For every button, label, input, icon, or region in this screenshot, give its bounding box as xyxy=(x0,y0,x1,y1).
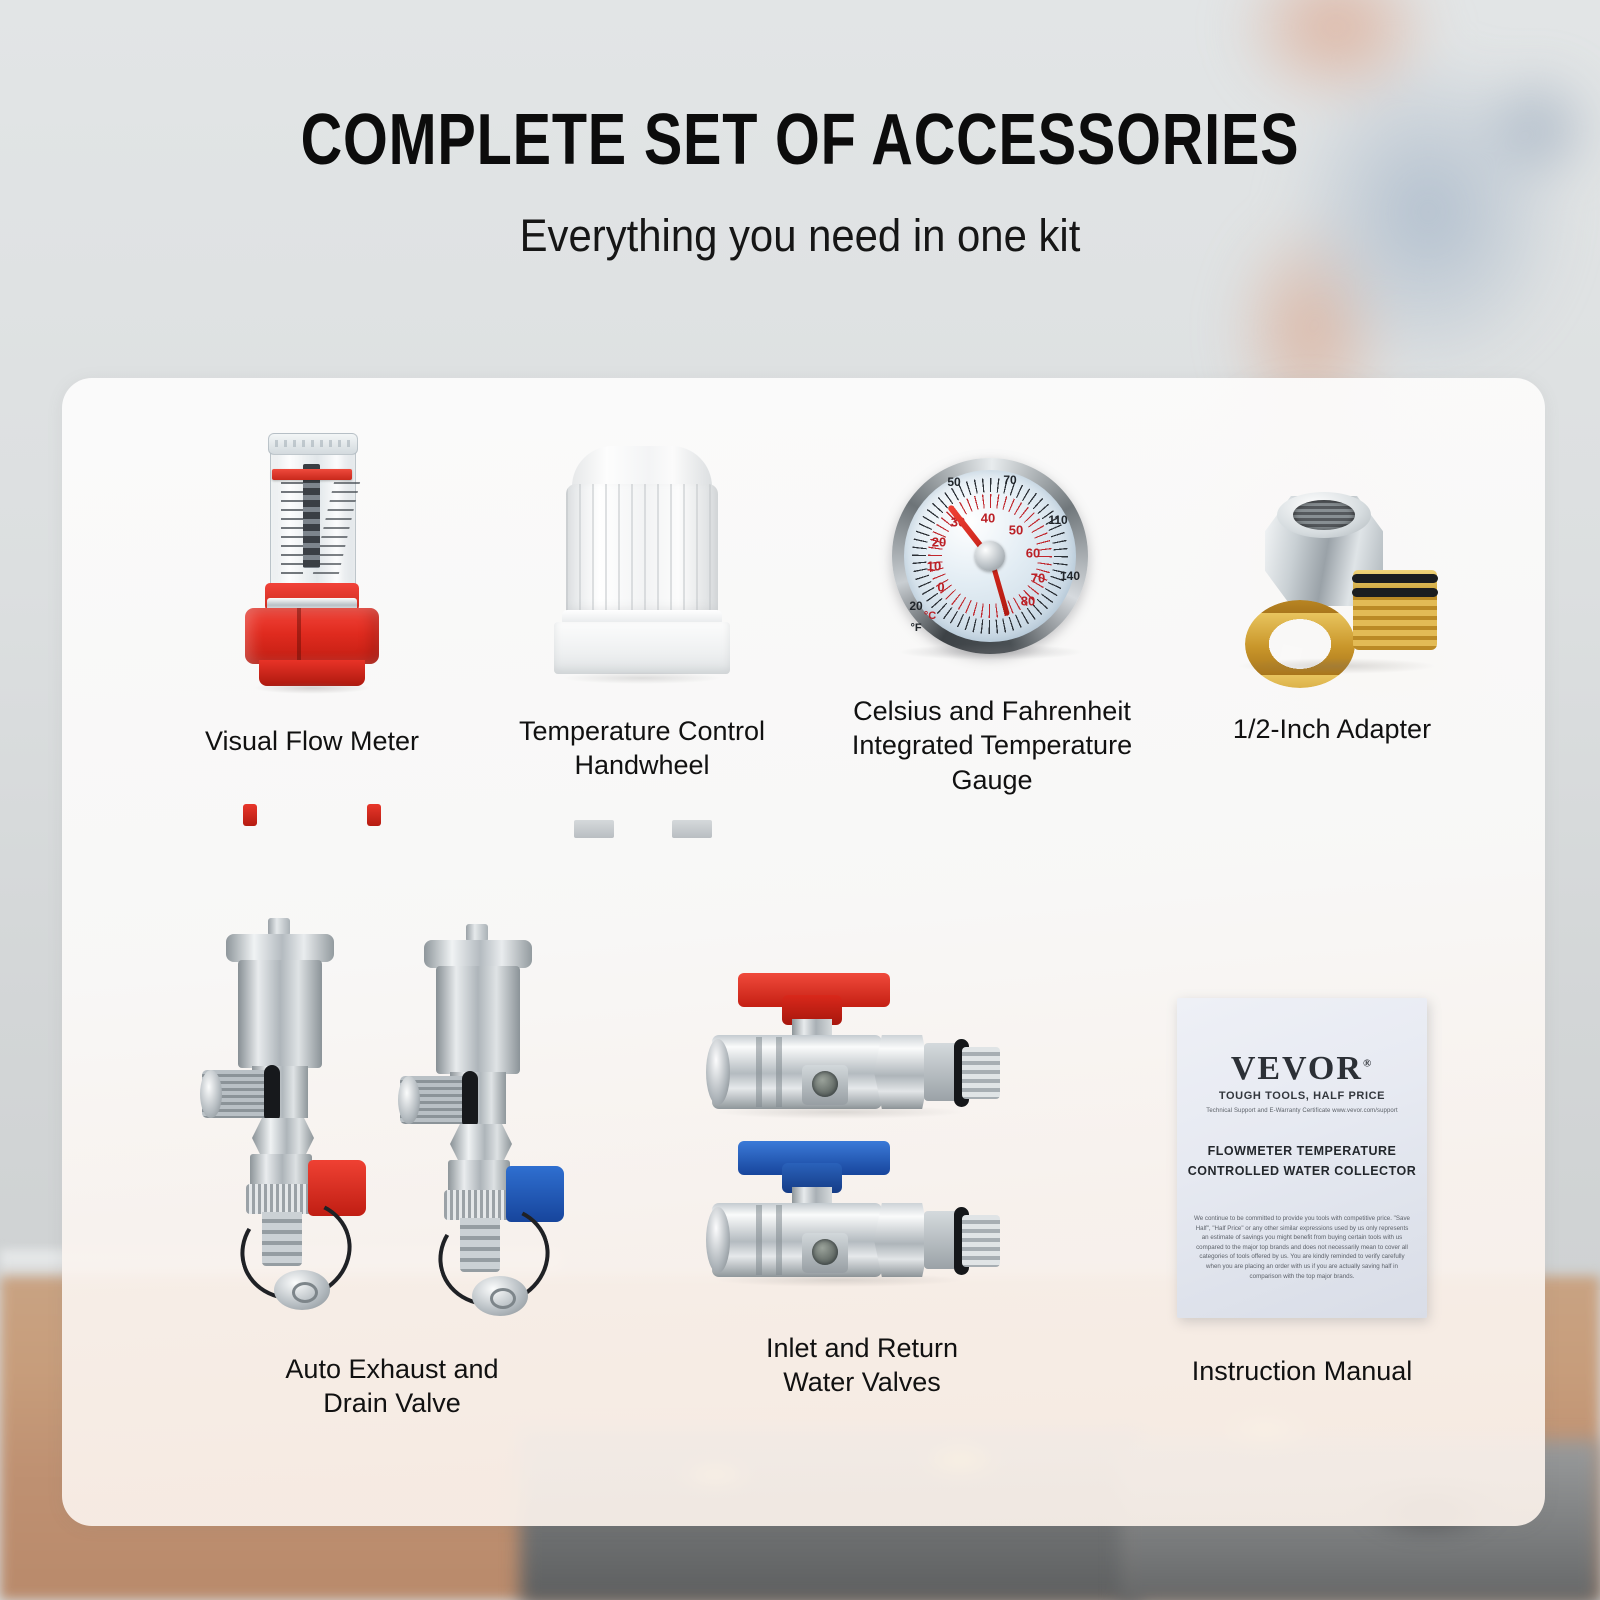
manual-icon: VEVOR® TOUGH TOOLS, HALF PRICE Technical… xyxy=(1177,998,1427,1318)
handwheel-icon xyxy=(552,440,732,680)
adapter-split-ring xyxy=(1245,600,1355,688)
drain-cap-disc xyxy=(274,1270,330,1310)
manual-tagline: TOUGH TOOLS, HALF PRICE xyxy=(1177,1090,1427,1102)
auto-exhaust-valve-icon xyxy=(212,918,362,1318)
gauge-fahrenheit-110: 110 xyxy=(1048,513,1067,527)
product-temperature-gauge: 0 10 20 30 40 50 60 70 80 20 50 70 110 1… xyxy=(822,458,1162,797)
header: COMPLETE SET OF ACCESSORIES Everything y… xyxy=(0,0,1600,262)
product-label: Instruction Manual xyxy=(1062,1354,1542,1388)
manual-support-line: Technical Support and E-Warranty Certifi… xyxy=(1191,1108,1413,1114)
registered-mark-icon: ® xyxy=(1363,1058,1373,1070)
drain-cap-disc-2 xyxy=(472,1276,528,1316)
adapter-brass-barb xyxy=(1353,590,1437,650)
product-label-line1: Celsius and Fahrenheit xyxy=(822,694,1162,728)
gauge-celsius-10: 10 xyxy=(927,559,941,574)
product-label-line1: Inlet and Return xyxy=(662,1331,1062,1365)
gauge-celsius-0: 0 xyxy=(937,580,944,595)
manual-title-line1: FLOWMETER TEMPERATURE xyxy=(1185,1144,1419,1158)
product-label: 1/2-Inch Adapter xyxy=(1182,712,1482,746)
gauge-fahrenheit-20: 20 xyxy=(909,599,922,613)
adapter-icon xyxy=(1217,478,1447,678)
gauge-celsius-50: 50 xyxy=(1009,523,1023,538)
gauge-unit-fahrenheit: °F xyxy=(910,622,921,634)
manual-body-text: We continue to be committed to provide y… xyxy=(1193,1214,1411,1281)
page-subtitle: Everything you need in one kit xyxy=(56,210,1544,262)
accessories-card: Visual Flow Meter Temperature Control Ha… xyxy=(62,378,1545,1526)
product-label-line2: Drain Valve xyxy=(182,1386,602,1420)
product-label-line3: Gauge xyxy=(822,763,1162,797)
product-auto-exhaust-drain-valve: Auto Exhaust and Drain Valve xyxy=(182,918,602,1421)
product-label-line1: Auto Exhaust and xyxy=(182,1352,602,1386)
product-label: Visual Flow Meter xyxy=(162,724,462,758)
ball-valve-icon-return xyxy=(704,1141,1004,1291)
product-label-line2: Water Valves xyxy=(662,1365,1062,1399)
product-temperature-control-handwheel: Temperature Control Handwheel xyxy=(477,440,807,783)
gauge-celsius-60: 60 xyxy=(1026,546,1040,561)
temperature-gauge-icon: 0 10 20 30 40 50 60 70 80 20 50 70 110 1… xyxy=(892,458,1092,658)
flow-meter-icon xyxy=(237,438,387,688)
gauge-fahrenheit-70: 70 xyxy=(1003,473,1016,487)
gauge-unit-celsius: °C xyxy=(924,610,936,622)
gauge-celsius-80: 80 xyxy=(1021,594,1035,609)
gauge-fahrenheit-140: 140 xyxy=(1060,569,1080,583)
gauge-celsius-40: 40 xyxy=(981,511,995,526)
gauge-fahrenheit-50: 50 xyxy=(947,475,960,489)
gauge-celsius-20: 20 xyxy=(932,535,946,550)
product-label-line2: Integrated Temperature xyxy=(822,728,1162,762)
product-instruction-manual: VEVOR® TOUGH TOOLS, HALF PRICE Technical… xyxy=(1062,978,1542,1388)
gauge-hub xyxy=(975,541,1005,571)
adapter-oring-1 xyxy=(1352,574,1438,583)
gauge-celsius-70: 70 xyxy=(1031,571,1045,586)
product-label-line2: Handwheel xyxy=(477,748,807,782)
product-half-inch-adapter: 1/2-Inch Adapter xyxy=(1182,478,1482,746)
product-visual-flow-meter: Visual Flow Meter xyxy=(162,438,462,758)
manual-title-line2: CONTROLLED WATER COLLECTOR xyxy=(1185,1164,1419,1178)
product-label-line1: Temperature Control xyxy=(477,714,807,748)
page-title: COMPLETE SET OF ACCESSORIES xyxy=(160,104,1440,176)
product-inlet-return-water-valves: Inlet and Return Water Valves xyxy=(662,933,1062,1400)
manual-brand: VEVOR® xyxy=(1177,1050,1427,1088)
ball-valve-icon-inlet xyxy=(704,973,1004,1123)
auto-exhaust-valve-icon-2 xyxy=(410,924,560,1324)
adapter-oring-2 xyxy=(1352,588,1438,597)
